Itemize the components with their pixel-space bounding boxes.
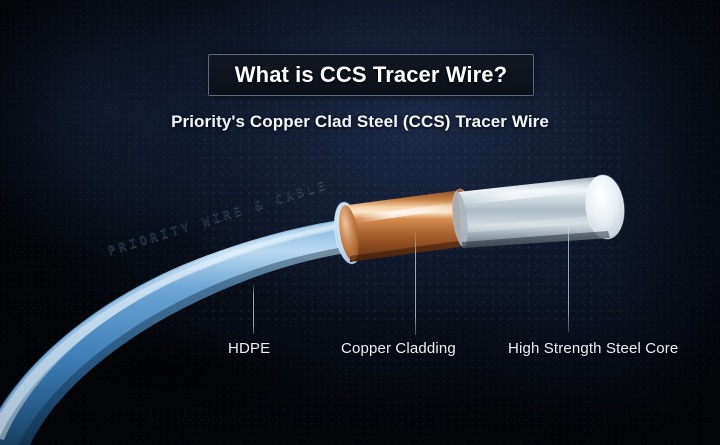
page-subtitle: Priority's Copper Clad Steel (CCS) Trace… (0, 112, 720, 132)
title-box: What is CCS Tracer Wire? (208, 54, 534, 96)
page-title: What is CCS Tracer Wire? (235, 62, 507, 88)
callout-label-hdpe: HDPE (228, 340, 270, 357)
steel-core (450, 173, 628, 248)
leader-line-steel-core (568, 214, 569, 332)
callout-label-steel-core: High Strength Steel Core (508, 340, 678, 357)
infographic-canvas: PRIORITY WIRE & CABLE HDPE Copper Claddi… (0, 0, 720, 445)
leader-line-copper-cladding (415, 232, 416, 335)
callout-label-copper-cladding: Copper Cladding (341, 340, 456, 357)
leader-line-hdpe (253, 284, 254, 334)
